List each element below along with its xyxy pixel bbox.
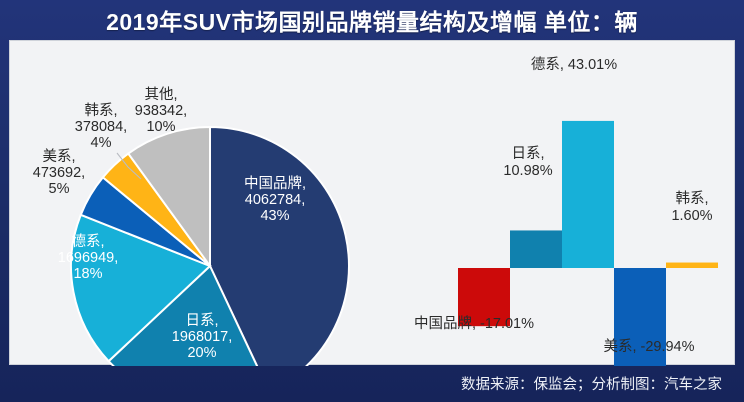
pie-label-china: 中国品牌, 4062784, 43% (220, 176, 330, 225)
data-source-note: 数据来源：保监会；分析制图：汽车之家 (461, 373, 722, 394)
bar-label-japan: 日系, 10.98% (485, 146, 571, 179)
bar-label-germany: 德系, 43.01% (508, 57, 640, 74)
bar-rect[interactable] (562, 121, 614, 268)
title-bar: 2019年SUV市场国别品牌销量结构及增幅 单位：辆 (0, 0, 744, 40)
bar-label-china: 中国品牌, -17.01% (408, 316, 540, 333)
infographic-frame: 2019年SUV市场国别品牌销量结构及增幅 单位：辆 中国品牌, 4062784… (0, 0, 744, 402)
charts-panel: 中国品牌, 4062784, 43% 日系, 1968017, 20% 德系, … (9, 40, 735, 365)
pie-label-other: 其他, 938342, 10% (108, 87, 214, 136)
pie-label-usa: 美系, 473692, 5% (16, 149, 102, 198)
footer-bar: 数据来源：保监会；分析制图：汽车之家 (0, 365, 744, 402)
pie-label-germany: 德系, 1696949, 18% (32, 234, 144, 283)
pie-chart: 中国品牌, 4062784, 43% 日系, 1968017, 20% 德系, … (10, 41, 400, 366)
bar-label-korea: 韩系, 1.60% (653, 191, 731, 224)
growth-bar-chart: 中国品牌, -17.01% 日系, 10.98% 德系, 43.01% 美系, … (400, 41, 736, 366)
bar-label-usa: 美系, -29.94% (582, 339, 716, 356)
pie-label-japan: 日系, 1968017, 20% (147, 313, 257, 362)
bar-rect[interactable] (666, 263, 718, 268)
bar-rect[interactable] (510, 230, 562, 268)
page-title: 2019年SUV市场国别品牌销量结构及增幅 单位：辆 (106, 3, 638, 37)
